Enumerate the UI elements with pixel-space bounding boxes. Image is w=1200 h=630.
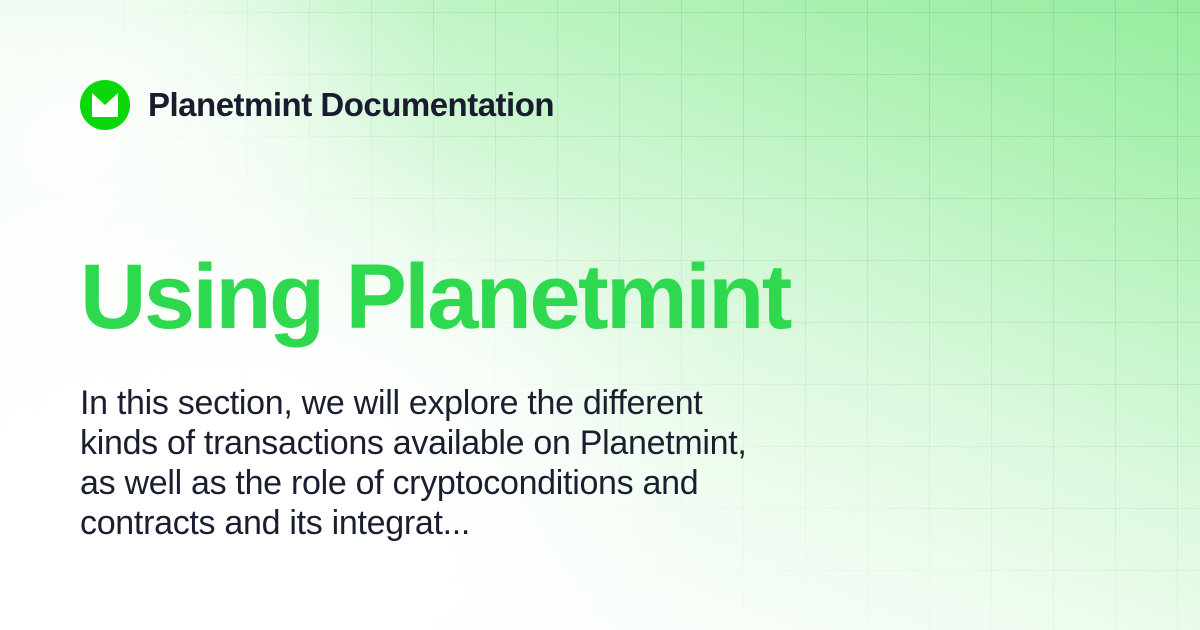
card-content: Planetmint Documentation Using Planetmin… bbox=[0, 0, 1200, 630]
page-title: Using Planetmint bbox=[80, 251, 790, 345]
og-card: Planetmint Documentation Using Planetmin… bbox=[0, 0, 1200, 630]
brand-title: Planetmint Documentation bbox=[148, 86, 554, 124]
page-description: In this section, we will explore the dif… bbox=[80, 383, 880, 543]
description-line: In this section, we will explore the dif… bbox=[80, 383, 880, 423]
planetmint-crown-icon bbox=[80, 80, 130, 130]
brand-row: Planetmint Documentation bbox=[80, 80, 554, 130]
description-line: as well as the role of cryptoconditions … bbox=[80, 463, 880, 503]
description-line: kinds of transactions available on Plane… bbox=[80, 423, 880, 463]
description-line: contracts and its integrat... bbox=[80, 503, 880, 543]
